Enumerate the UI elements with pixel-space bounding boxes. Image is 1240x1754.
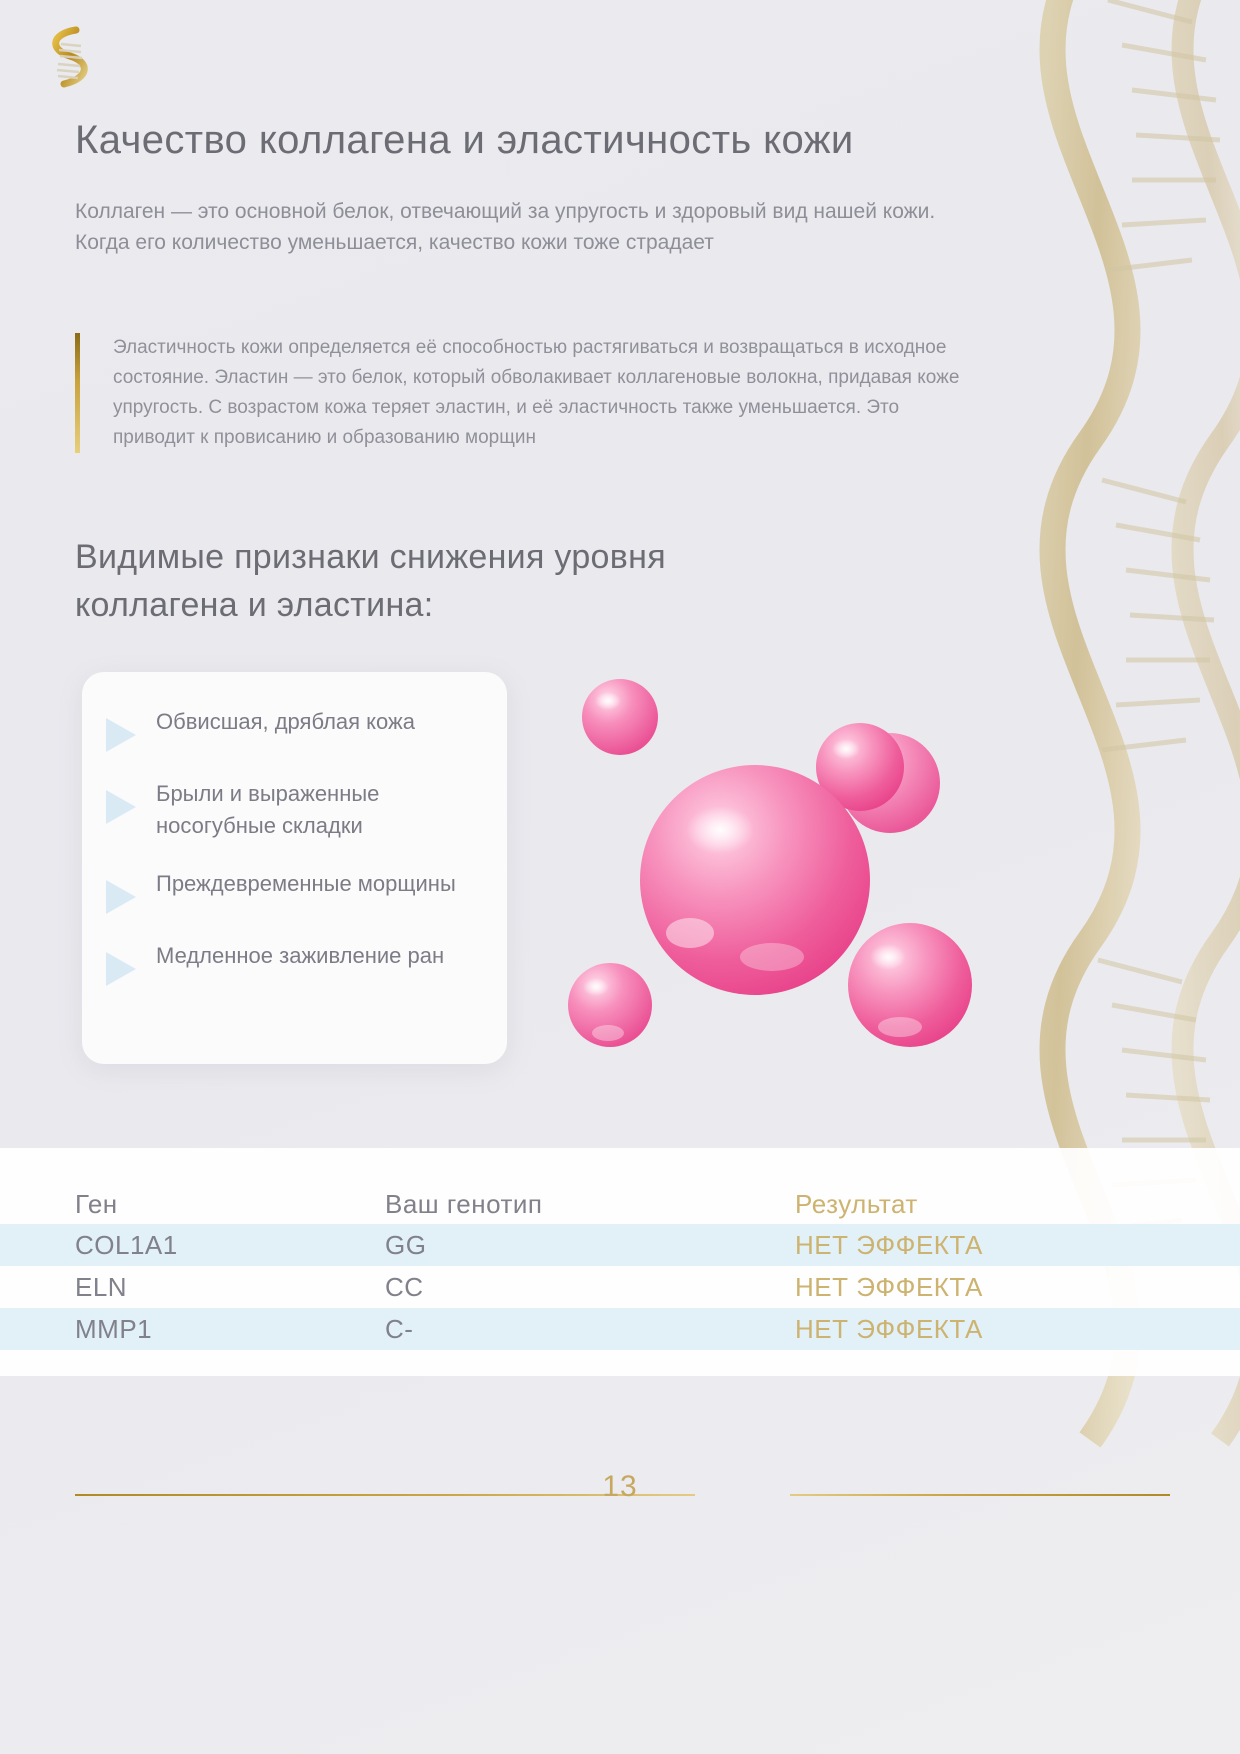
table-row: COL1A1 GG НЕТ ЭФФЕКТА [0, 1224, 1240, 1266]
page-title: Качество коллагена и эластичность кожи [75, 118, 854, 163]
cell-gene: COL1A1 [75, 1230, 385, 1261]
triangle-bullet-icon [106, 952, 136, 986]
cell-result: НЕТ ЭФФЕКТА [795, 1272, 1180, 1303]
table-header-row: Ген Ваш генотип Результат [0, 1148, 1240, 1224]
column-header-result: Результат [795, 1189, 1180, 1220]
list-item: Обвисшая, дряблая кожа [106, 706, 481, 752]
table-row: MMP1 C- НЕТ ЭФФЕКТА [0, 1308, 1240, 1350]
triangle-bullet-icon [106, 790, 136, 824]
triangle-bullet-icon [106, 880, 136, 914]
triangle-bullet-icon [106, 718, 136, 752]
sign-label: Обвисшая, дряблая кожа [156, 706, 415, 738]
cell-gene: MMP1 [75, 1314, 385, 1345]
list-item: Медленное заживление ран [106, 940, 481, 986]
sign-label: Преждевременные морщины [156, 868, 456, 900]
elasticity-callout: Эластичность кожи определяется её способ… [75, 333, 985, 453]
list-item: Брыли и выраженные носогубные складки [106, 778, 481, 842]
signs-subheading: Видимые признаки снижения уровня коллаге… [75, 533, 835, 629]
cell-genotype: GG [385, 1230, 795, 1261]
column-header-genotype: Ваш генотип [385, 1189, 795, 1220]
intro-paragraph: Коллаген — это основной белок, отвечающи… [75, 196, 975, 258]
table-row: ELN CC НЕТ ЭФФЕКТА [0, 1266, 1240, 1308]
list-item: Преждевременные морщины [106, 868, 481, 914]
cell-result: НЕТ ЭФФЕКТА [795, 1314, 1180, 1345]
cell-genotype: C- [385, 1314, 795, 1345]
collagen-bubbles-illustration [560, 655, 1040, 1085]
genotype-results-table: Ген Ваш генотип Результат COL1A1 GG НЕТ … [0, 1148, 1240, 1376]
cell-genotype: CC [385, 1272, 795, 1303]
report-page: Качество коллагена и эластичность кожи К… [0, 0, 1240, 1754]
cell-gene: ELN [75, 1272, 385, 1303]
column-header-gene: Ген [75, 1189, 385, 1220]
cell-result: НЕТ ЭФФЕКТА [795, 1230, 1180, 1261]
dna-helix-logo [36, 22, 100, 94]
sign-label: Брыли и выраженные носогубные складки [156, 778, 476, 842]
page-number: 13 [0, 1470, 1240, 1504]
signs-card: Обвисшая, дряблая кожа Брыли и выраженны… [82, 672, 507, 1064]
sign-label: Медленное заживление ран [156, 940, 444, 972]
